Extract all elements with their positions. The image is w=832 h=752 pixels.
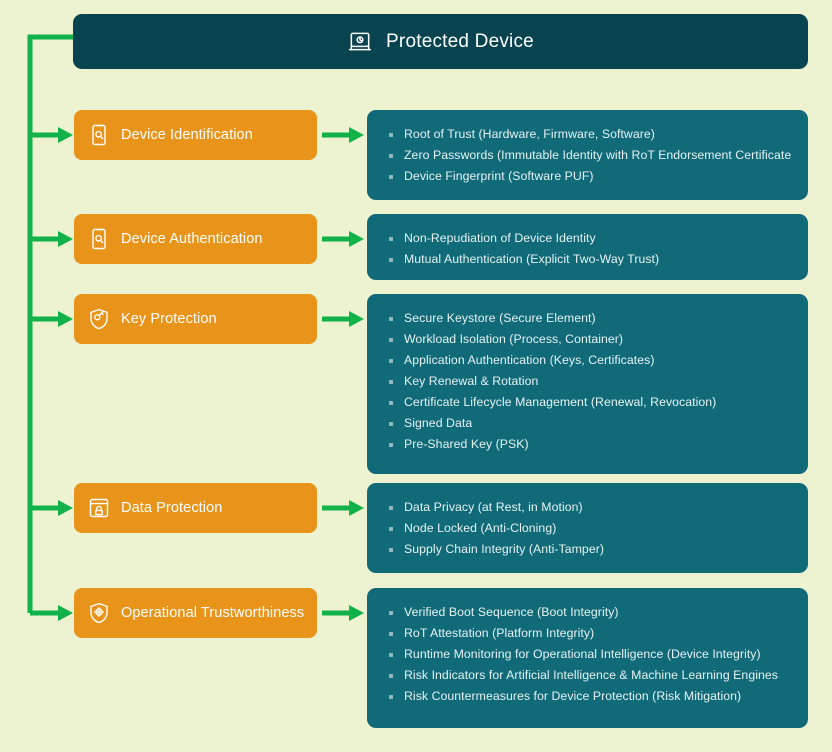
- list-item: Workload Isolation (Process, Container): [389, 329, 798, 350]
- list-item: Mutual Authentication (Explicit Two-Way …: [389, 249, 798, 270]
- category-label: Device Identification: [121, 127, 253, 143]
- category-label: Operational Trustworthiness: [121, 605, 304, 621]
- details-operational-trustworthiness: Verified Boot Sequence (Boot Integrity) …: [367, 588, 808, 728]
- category-label: Key Protection: [121, 311, 217, 327]
- device-magnifier-icon: [87, 123, 111, 147]
- shield-key-icon: [87, 307, 111, 331]
- detail-list: Data Privacy (at Rest, in Motion) Node L…: [389, 497, 798, 560]
- page-title: Protected Device: [386, 31, 534, 53]
- trunk-line: [30, 37, 73, 613]
- detail-list: Non-Repudiation of Device Identity Mutua…: [389, 228, 798, 270]
- list-item: Pre-Shared Key (PSK): [389, 434, 798, 455]
- category-label: Data Protection: [121, 500, 222, 516]
- details-device-authentication: Non-Repudiation of Device Identity Mutua…: [367, 214, 808, 280]
- arrowheads: [58, 127, 364, 621]
- list-item: Zero Passwords (Immutable Identity with …: [389, 145, 798, 166]
- list-item: Application Authentication (Keys, Certif…: [389, 350, 798, 371]
- details-device-identification: Root of Trust (Hardware, Firmware, Softw…: [367, 110, 808, 200]
- category-device-identification[interactable]: Device Identification: [74, 110, 317, 160]
- list-item: Verified Boot Sequence (Boot Integrity): [389, 602, 798, 623]
- list-item: Data Privacy (at Rest, in Motion): [389, 497, 798, 518]
- category-key-protection[interactable]: Key Protection: [74, 294, 317, 344]
- list-item: Node Locked (Anti-Cloning): [389, 518, 798, 539]
- list-item: Key Renewal & Rotation: [389, 371, 798, 392]
- list-item: Risk Indicators for Artificial Intellige…: [389, 665, 798, 686]
- category-label: Device Authentication: [121, 231, 263, 247]
- list-item: Certificate Lifecycle Management (Renewa…: [389, 392, 798, 413]
- list-item: Signed Data: [389, 413, 798, 434]
- protected-device-diagram: Protected Device Device Identification R…: [0, 0, 832, 752]
- details-data-protection: Data Privacy (at Rest, in Motion) Node L…: [367, 483, 808, 573]
- protected-device-header: Protected Device: [73, 14, 808, 69]
- detail-list: Secure Keystore (Secure Element) Workloa…: [389, 308, 798, 455]
- list-item: Secure Keystore (Secure Element): [389, 308, 798, 329]
- category-data-protection[interactable]: Data Protection: [74, 483, 317, 533]
- list-item: Non-Repudiation of Device Identity: [389, 228, 798, 249]
- list-item: Runtime Monitoring for Operational Intel…: [389, 644, 798, 665]
- detail-list: Root of Trust (Hardware, Firmware, Softw…: [389, 124, 798, 187]
- window-lock-icon: [87, 496, 111, 520]
- list-item: Device Fingerprint (Software PUF): [389, 166, 798, 187]
- protected-laptop-icon: [347, 29, 373, 55]
- category-device-authentication[interactable]: Device Authentication: [74, 214, 317, 264]
- list-item: Supply Chain Integrity (Anti-Tamper): [389, 539, 798, 560]
- list-item: Root of Trust (Hardware, Firmware, Softw…: [389, 124, 798, 145]
- list-item: Risk Countermeasures for Device Protecti…: [389, 686, 798, 707]
- details-key-protection: Secure Keystore (Secure Element) Workloa…: [367, 294, 808, 474]
- category-operational-trustworthiness[interactable]: Operational Trustworthiness: [74, 588, 317, 638]
- device-magnifier-icon: [87, 227, 111, 251]
- list-item: RoT Attestation (Platform Integrity): [389, 623, 798, 644]
- detail-list: Verified Boot Sequence (Boot Integrity) …: [389, 602, 798, 707]
- shield-gear-icon: [87, 601, 111, 625]
